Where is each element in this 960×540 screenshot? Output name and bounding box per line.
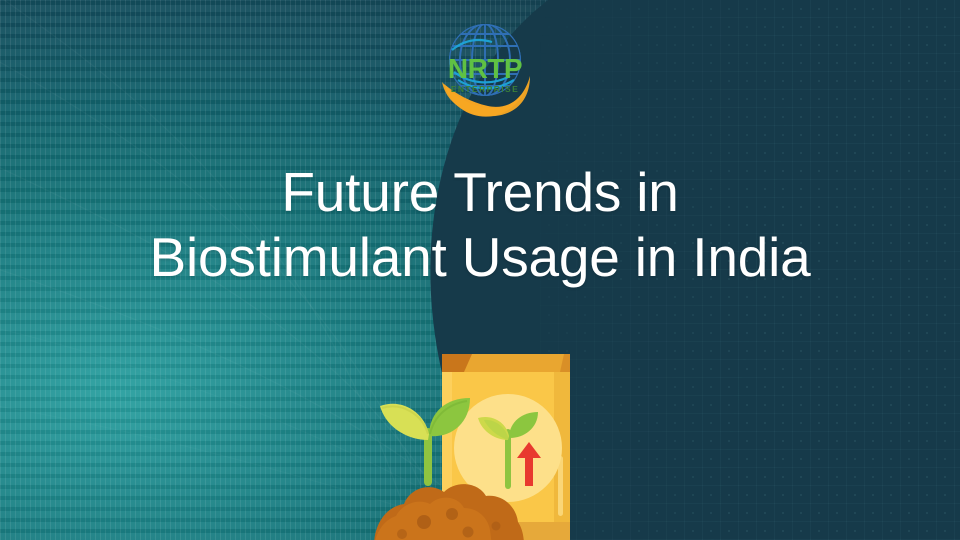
logo-brand-text: NRTP	[448, 53, 522, 84]
logo-tagline-text: ENTERPRISE	[451, 84, 519, 94]
biostimulant-illustration	[368, 336, 616, 540]
presentation-slide: NRTP ENTERPRISE Future Trends in Biostim…	[0, 0, 960, 540]
slide-title: Future Trends in Biostimulant Usage in I…	[0, 160, 960, 290]
nrtp-enterprise-logo: NRTP ENTERPRISE	[430, 14, 540, 120]
